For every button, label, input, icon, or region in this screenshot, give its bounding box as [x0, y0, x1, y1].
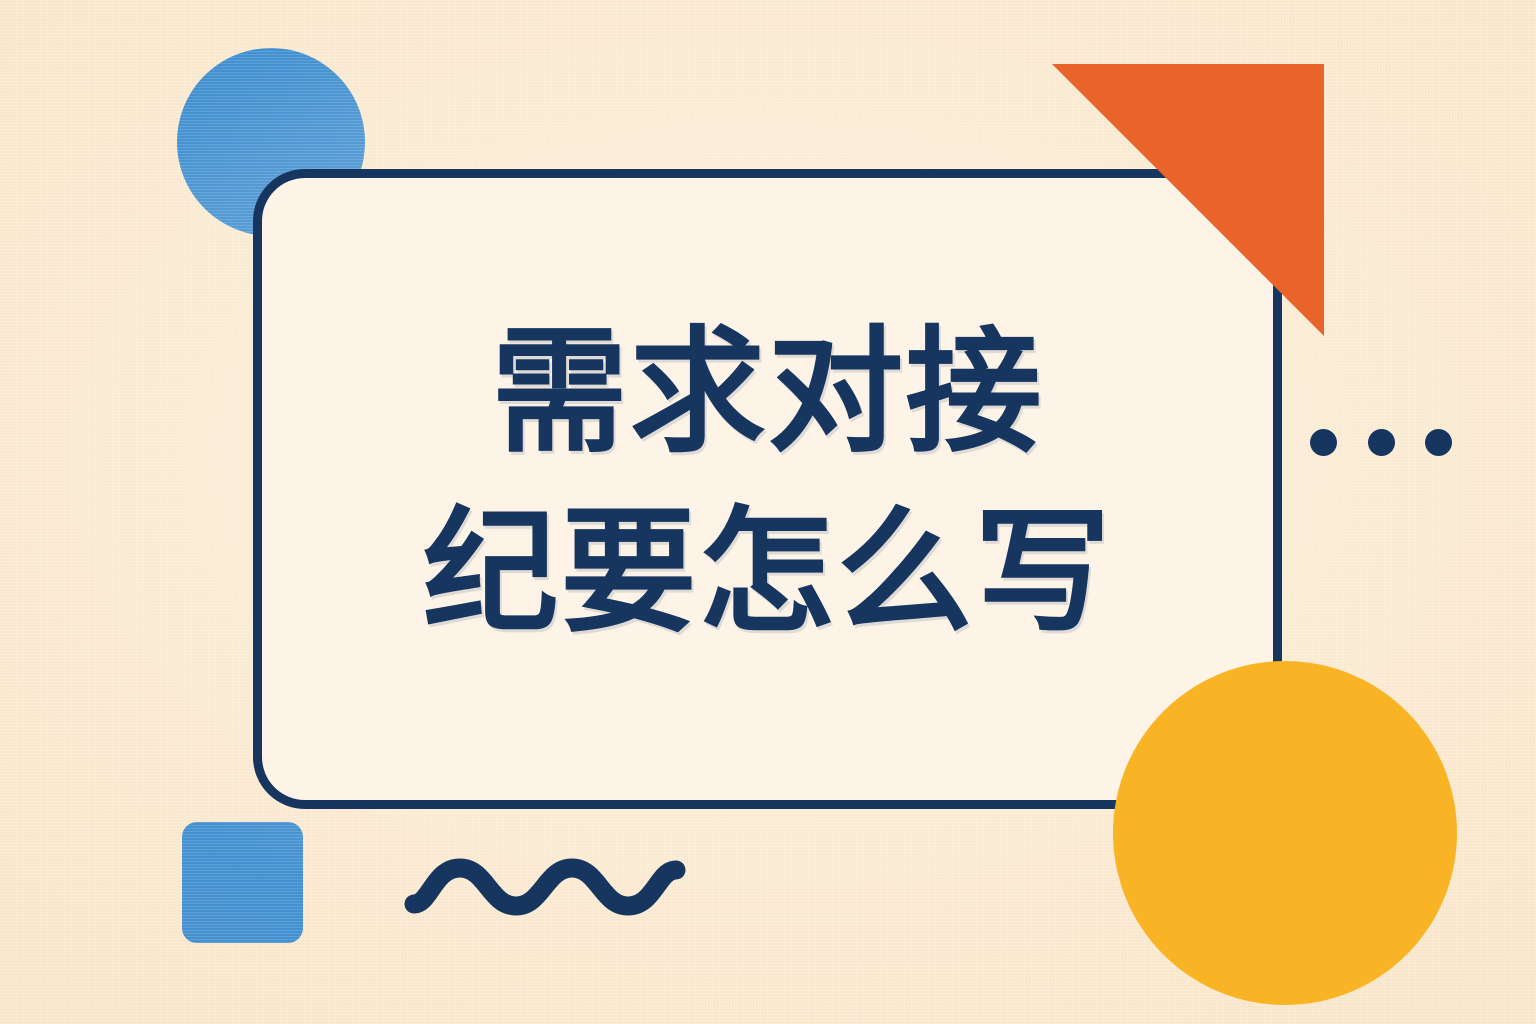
- poster-canvas: 需求对接 纪要怎么写: [0, 0, 1536, 1024]
- orange-triangle-decoration: [1052, 64, 1324, 336]
- dot-icon: [1368, 429, 1395, 456]
- blue-rounded-square-decoration: [182, 822, 303, 943]
- three-dots-decoration: [1310, 428, 1452, 456]
- yellow-circle-decoration: [1113, 661, 1457, 1005]
- dot-icon: [1425, 429, 1452, 456]
- page-title: 需求对接 纪要怎么写: [423, 303, 1113, 662]
- dot-icon: [1310, 429, 1337, 456]
- navy-wave-decoration: [404, 846, 686, 928]
- title-line-2: 纪要怎么写: [423, 483, 1113, 663]
- title-line-1: 需求对接: [423, 303, 1113, 483]
